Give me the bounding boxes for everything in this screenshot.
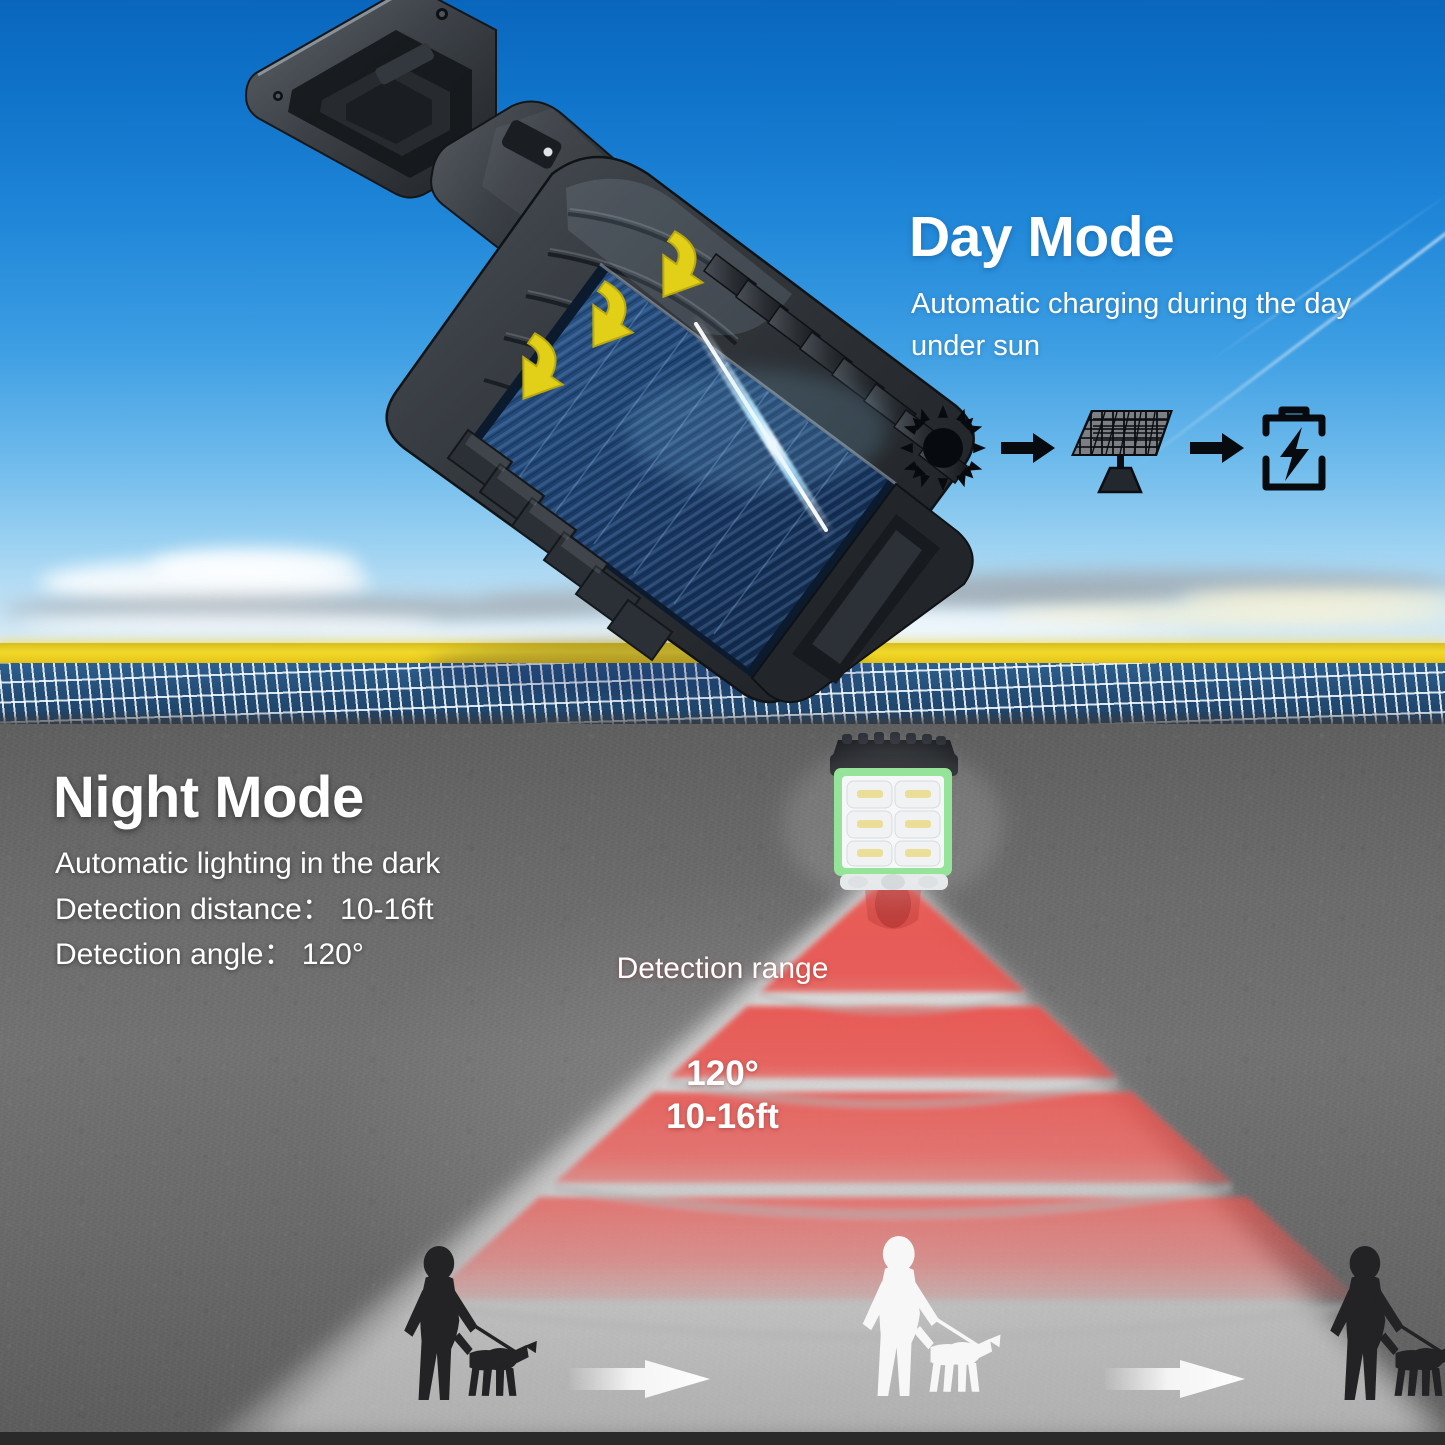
- ground-baseline: [0, 1432, 1445, 1445]
- night-detail-line-1: Automatic lighting in the dark: [55, 841, 440, 887]
- battery-charging-icon: [1258, 401, 1330, 495]
- solar-street-light-product: [196, 0, 976, 724]
- night-mode-section: [0, 724, 1445, 1445]
- arrow-right-icon-2: [1190, 431, 1244, 465]
- night-detail-line-3: Detection angle： 120°: [55, 932, 440, 978]
- night-mode-title: Night Mode: [53, 764, 364, 831]
- charging-flow-diagram: [900, 390, 1330, 505]
- product-infographic-poster: Day Mode Automatic charging during the d…: [0, 0, 1445, 1445]
- day-mode-subtitle: Automatic charging during the day under …: [911, 283, 1411, 367]
- day-mode-title: Day Mode: [909, 204, 1174, 270]
- night-detail-line-2: Detection distance： 10-16ft: [55, 887, 440, 933]
- arrow-right-icon-1: [1001, 431, 1055, 465]
- sun-icon: [900, 405, 986, 491]
- night-mode-details: Automatic lighting in the dark Detection…: [55, 841, 440, 978]
- day-mode-section: Day Mode Automatic charging during the d…: [0, 0, 1445, 724]
- solar-panel-icon: [1069, 402, 1175, 494]
- led-lamp-head: [783, 732, 1003, 904]
